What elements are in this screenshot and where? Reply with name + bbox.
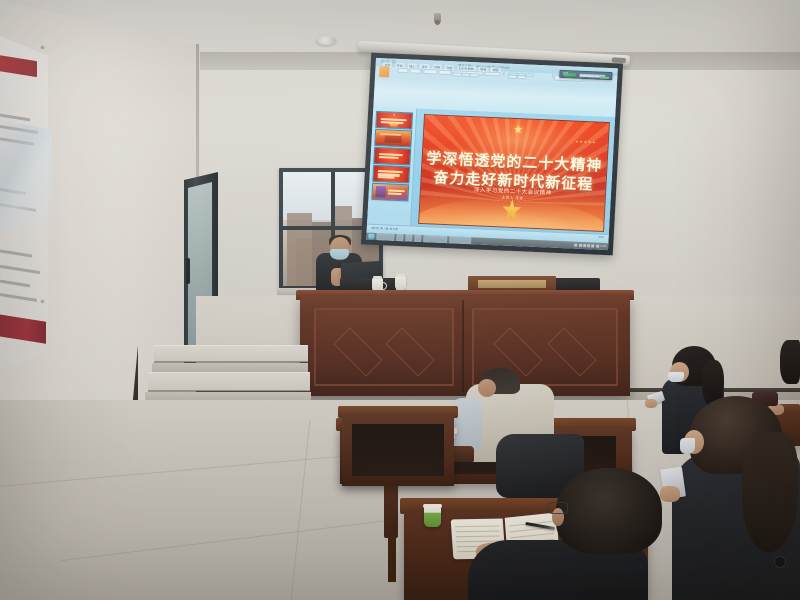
- attendee-front-notetaker-hair: [556, 468, 662, 554]
- face-mask-icon: [680, 438, 695, 454]
- stair-step: [154, 345, 308, 362]
- ribbon-button[interactable]: [409, 68, 421, 74]
- ribbon-button[interactable]: [525, 73, 534, 77]
- hand: [660, 486, 680, 502]
- projection-screen-surface: 演示文稿1 - Microsoft PowerPoint 文件 开始 插入 设计…: [366, 58, 618, 250]
- ribbon-button[interactable]: [424, 69, 438, 75]
- star-icon: ★: [393, 113, 396, 116]
- stair-riser: [152, 363, 308, 372]
- font-size-box[interactable]: [484, 71, 501, 76]
- attendee-far-right-hair: [780, 340, 800, 384]
- tray-icon[interactable]: [583, 244, 586, 247]
- zoom-level[interactable]: 66%: [599, 236, 604, 239]
- current-slide[interactable]: ★ ★★★★★ 学深悟透党的二十大精神 奋力走好新时代新征程 深入学习党的二十大…: [418, 114, 610, 232]
- podium-diamond-inlay: [334, 328, 383, 377]
- sign-glass-glare: [0, 120, 52, 230]
- eyeglasses-icon: [548, 502, 568, 514]
- thumb-line: [388, 192, 402, 195]
- stair-step: [148, 372, 310, 391]
- sprinkler-head-icon: [434, 13, 441, 24]
- tea-cup[interactable]: [395, 276, 406, 290]
- volume-icon[interactable]: [592, 244, 595, 247]
- start-button-icon[interactable]: [368, 233, 374, 238]
- ribbon-button[interactable]: [397, 67, 409, 73]
- notebook-rule: [510, 533, 554, 538]
- color-swatch[interactable]: [563, 73, 576, 76]
- ppt-slide-editing-area[interactable]: ★ ★★★★★ 学深悟透党的二十大精神 奋力走好新时代新征程 深入学习党的二十大…: [410, 109, 615, 236]
- ppt-app-logo-icon: [379, 66, 390, 77]
- slide-thumbnail[interactable]: [372, 165, 410, 184]
- taskbar-item[interactable]: [396, 234, 403, 241]
- podium-panel: [314, 308, 454, 386]
- ribbon-button[interactable]: [470, 73, 479, 77]
- button-icon: [774, 556, 786, 568]
- slide-thumbnail[interactable]: [373, 147, 411, 166]
- face-mask-icon: [330, 249, 349, 259]
- slide-thumbnail[interactable]: [371, 183, 409, 202]
- dialog-ok-button[interactable]: [600, 77, 609, 79]
- system-tray[interactable]: 14:32: [574, 244, 606, 248]
- tray-icon[interactable]: [587, 244, 590, 247]
- projection-screen-bezel: 演示文稿1 - Microsoft PowerPoint 文件 开始 插入 设计…: [361, 53, 623, 256]
- thumb-line: [388, 189, 405, 192]
- taskbar-window-button[interactable]: [423, 235, 447, 243]
- dialog-line: [579, 76, 602, 79]
- thumb-title-line: [378, 176, 395, 179]
- face-mask-icon: [668, 372, 684, 382]
- ribbon-button[interactable]: [517, 75, 526, 79]
- desk-cavity: [352, 424, 444, 476]
- thumb-photo-block: [384, 135, 401, 143]
- powerpoint-window[interactable]: 演示文稿1 - Microsoft PowerPoint 文件 开始 插入 设计…: [366, 58, 618, 250]
- taskbar-item[interactable]: [414, 235, 421, 242]
- ppt-slide-thumbnail-panel[interactable]: ★: [367, 107, 417, 227]
- notebook-rule: [456, 536, 500, 537]
- slide-counter: 幻灯片 第 1 张, 共 6 张: [372, 226, 398, 231]
- sign-screw: [41, 46, 44, 49]
- sign-screw: [41, 300, 44, 303]
- attendee-vest-head: [478, 379, 496, 397]
- thumb-photo-block: [375, 186, 386, 198]
- network-icon[interactable]: [596, 244, 599, 247]
- podium-diamond-inlay: [386, 328, 435, 377]
- ponytail: [742, 432, 798, 552]
- tray-icon[interactable]: [579, 244, 582, 247]
- star-icon: ★: [513, 125, 523, 136]
- notebook-rule: [455, 526, 499, 527]
- tray-icon[interactable]: [574, 244, 577, 247]
- thumb-title-line: [379, 156, 399, 159]
- hand: [645, 399, 657, 408]
- door-handle[interactable]: [186, 258, 190, 284]
- paper-cup[interactable]: [424, 505, 441, 527]
- taskbar-window-button[interactable]: [449, 236, 471, 244]
- taskbar-item[interactable]: [405, 234, 412, 241]
- notebook-rule: [455, 531, 499, 532]
- slide-thumbnail[interactable]: [374, 129, 412, 148]
- mini-stars: ★★★★★: [575, 139, 596, 144]
- taskbar-clock[interactable]: 14:32: [600, 245, 606, 248]
- podium-diamond-inlay: [548, 328, 597, 377]
- taskbar-item[interactable]: [376, 233, 394, 241]
- slide-thumbnail[interactable]: ★: [375, 111, 413, 130]
- conference-room-photo: 演示文稿1 - Microsoft PowerPoint 文件 开始 插入 设计…: [0, 0, 800, 600]
- ribbon-button[interactable]: [438, 69, 451, 75]
- speaker-podium: [300, 296, 630, 396]
- podium-seam: [462, 300, 464, 392]
- chair-leg: [388, 534, 396, 582]
- downlight-icon: [316, 36, 336, 45]
